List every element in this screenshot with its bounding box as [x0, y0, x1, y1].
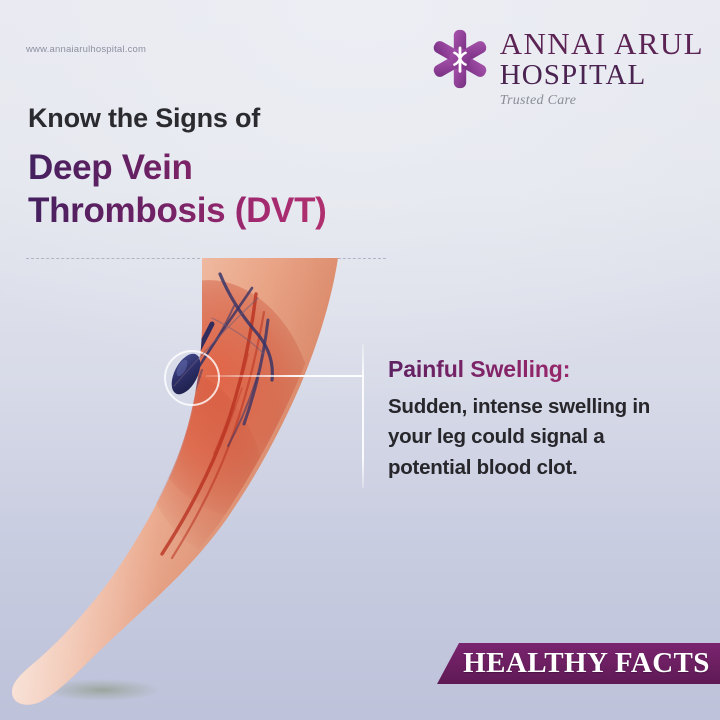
star-of-life-caduceus-icon	[429, 28, 491, 90]
healthy-facts-label: HEALTHY FACTS	[447, 647, 710, 680]
website-url: www.annaiarulhospital.com	[26, 44, 146, 55]
logo-name-line1: ANNAI ARUL	[500, 28, 704, 59]
callout-connector-vertical	[362, 344, 364, 488]
logo-tagline: Trusted Care	[500, 94, 704, 108]
headline-line-2: Thrombosis (DVT)	[28, 189, 327, 233]
healthy-facts-banner: HEALTHY FACTS	[437, 643, 720, 684]
headline-kicker: Know the Signs of	[28, 104, 327, 134]
callout-body: Sudden, intense swelling in your leg cou…	[388, 392, 673, 483]
headline-block: Know the Signs of Deep Vein Thrombosis (…	[28, 104, 327, 233]
symptom-callout: Painful Swelling: Sudden, intense swelli…	[388, 356, 688, 483]
infographic-poster: www.annaiarulhospital.com	[0, 0, 720, 720]
hospital-logo: ANNAI ARUL HOSPITAL Trusted Care	[429, 26, 704, 108]
callout-connector-horizontal	[206, 375, 364, 377]
affected-vein-segment-lower	[152, 386, 176, 426]
headline-line-1: Deep Vein	[28, 146, 327, 190]
headline-main: Deep Vein Thrombosis (DVT)	[28, 146, 327, 234]
logo-name-line2: HOSPITAL	[500, 61, 704, 90]
leg-anatomy-illustration	[6, 258, 366, 706]
callout-title: Painful Swelling:	[388, 356, 688, 383]
